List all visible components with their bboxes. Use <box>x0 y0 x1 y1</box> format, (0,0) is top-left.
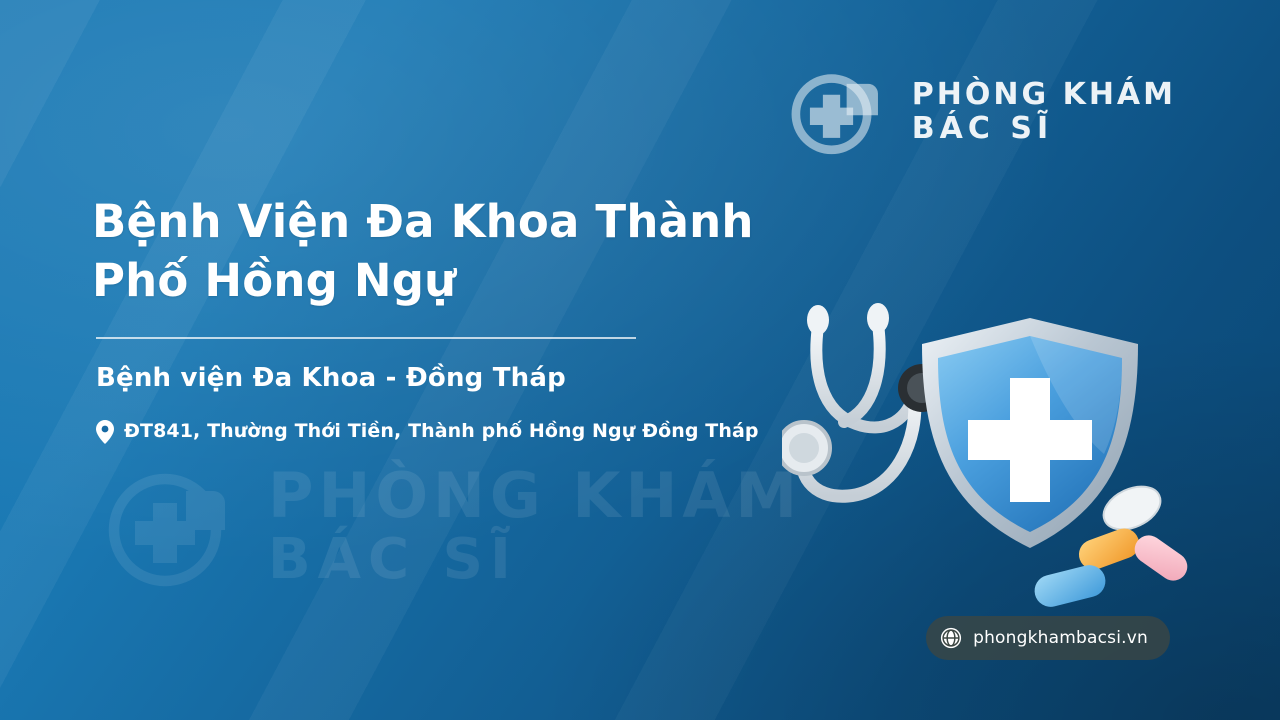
page-title: Bệnh Viện Đa Khoa Thành Phố Hồng Ngự <box>92 192 792 311</box>
watermark-text: PHÒNG KHÁM BÁC SĨ <box>268 463 802 590</box>
brand-logo-line2: BÁC SĨ <box>912 112 1176 146</box>
website-url-pill[interactable]: phongkhambacsi.vn <box>926 616 1170 660</box>
brand-logo: PHÒNG KHÁM BÁC SĨ <box>784 58 1176 166</box>
watermark: PHÒNG KHÁM BÁC SĨ <box>96 452 802 602</box>
stethoscope-icon <box>782 303 946 496</box>
website-url-text: phongkhambacsi.vn <box>973 628 1148 648</box>
medical-cross-shield-icon <box>784 58 892 166</box>
stethoscope-shield-pills-illustration <box>782 296 1202 636</box>
subtitle: Bệnh viện Đa Khoa - Đồng Tháp <box>96 363 792 393</box>
address-text: ĐT841, Thường Thới Tiền, Thành phố Hồng … <box>124 415 759 448</box>
watermark-cross-shield-icon <box>96 452 246 602</box>
brand-logo-line1: PHÒNG KHÁM <box>912 78 1176 112</box>
watermark-line1: PHÒNG KHÁM <box>268 463 802 530</box>
brand-logo-text: PHÒNG KHÁM BÁC SĨ <box>912 78 1176 145</box>
globe-icon <box>940 627 962 649</box>
address-row: ĐT841, Thường Thới Tiền, Thành phố Hồng … <box>96 415 792 448</box>
content-block: Bệnh Viện Đa Khoa Thành Phố Hồng Ngự Bện… <box>92 192 792 447</box>
map-pin-icon <box>96 420 114 444</box>
divider <box>96 337 636 339</box>
banner-card: PHÒNG KHÁM BÁC SĨ PHÒNG KHÁM BÁC SĨ Bệnh… <box>0 0 1280 720</box>
watermark-line2: BÁC SĨ <box>268 530 802 590</box>
